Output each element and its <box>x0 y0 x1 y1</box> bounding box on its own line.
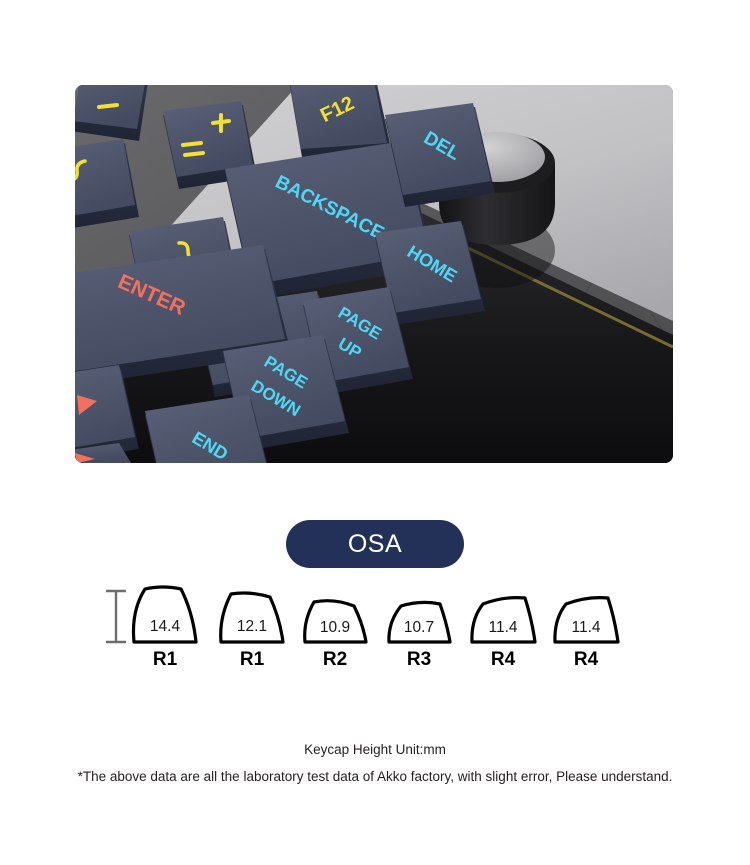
keycap-profile-chart: 14.4 R1 12.1 R1 10.9 R2 10.7 R3 11.4 R4 <box>100 575 650 670</box>
keycap-profile-4: 11.4 R4 <box>472 598 535 670</box>
cap-height-4: 11.4 <box>488 619 517 636</box>
cap-row-2: R2 <box>323 649 347 670</box>
cap-height-2: 10.9 <box>320 619 350 636</box>
cap-row-5: R4 <box>574 649 599 670</box>
keycap-profile-3: 10.7 R3 <box>389 602 450 670</box>
keycap-profile-0: 14.4 R1 <box>133 587 196 670</box>
product-photo: F12 <box>75 85 673 463</box>
height-measure-indicator <box>106 591 126 642</box>
cap-row-3: R3 <box>407 649 431 670</box>
keyboard-photo-illustration: F12 <box>75 85 673 463</box>
cap-row-1: R1 <box>240 649 265 670</box>
keycap-profile-5: 11.4 R4 <box>555 598 618 670</box>
keycap-profile-diagram: 14.4 R1 12.1 R1 10.9 R2 10.7 R3 11.4 R4 <box>100 575 650 670</box>
keycap-profile-1: 12.1 R1 <box>221 593 283 670</box>
disclaimer-text: *The above data are all the laboratory t… <box>0 769 750 784</box>
cap-row-0: R1 <box>153 649 178 670</box>
cap-height-0: 14.4 <box>150 618 181 635</box>
unit-caption: Keycap Height Unit:mm <box>0 742 750 757</box>
cap-row-4: R4 <box>491 649 516 670</box>
profile-badge-osa[interactable]: OSA <box>286 520 464 568</box>
cap-height-5: 11.4 <box>571 619 600 636</box>
cap-height-1: 12.1 <box>237 618 267 635</box>
keycap-profile-2: 10.9 R2 <box>305 601 366 670</box>
cap-height-3: 10.7 <box>404 619 434 636</box>
keycap-minus <box>75 85 149 141</box>
